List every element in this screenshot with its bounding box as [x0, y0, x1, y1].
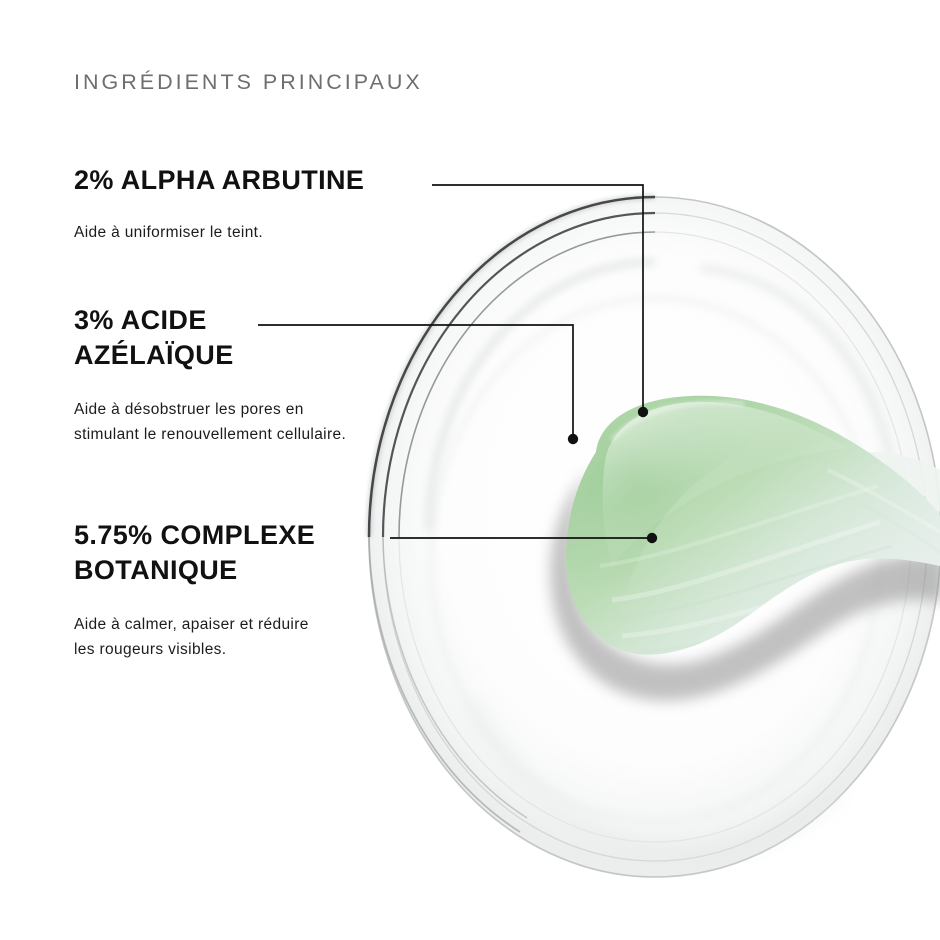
- ingredient-block-acide-azelaique: 3% ACIDE AZÉLAÏQUE Aide à désobstruer le…: [74, 303, 346, 447]
- text-overlay: INGRÉDIENTS PRINCIPAUX 2% ALPHA ARBUTINE…: [0, 0, 940, 940]
- ingredient-infographic: INGRÉDIENTS PRINCIPAUX 2% ALPHA ARBUTINE…: [0, 0, 940, 940]
- ingredient-description: Aide à uniformiser le teint.: [74, 220, 364, 245]
- ingredient-title: 5.75% COMPLEXE BOTANIQUE: [74, 518, 315, 588]
- page-title: INGRÉDIENTS PRINCIPAUX: [74, 70, 423, 95]
- ingredient-title: 2% ALPHA ARBUTINE: [74, 163, 364, 198]
- ingredient-block-complexe-botanique: 5.75% COMPLEXE BOTANIQUE Aide à calmer, …: [74, 518, 315, 662]
- ingredient-description: Aide à désobstruer les pores en stimulan…: [74, 397, 346, 447]
- ingredient-description: Aide à calmer, apaiser et réduire les ro…: [74, 612, 315, 662]
- ingredient-title: 3% ACIDE AZÉLAÏQUE: [74, 303, 346, 373]
- ingredient-block-alpha-arbutine: 2% ALPHA ARBUTINE Aide à uniformiser le …: [74, 163, 364, 245]
